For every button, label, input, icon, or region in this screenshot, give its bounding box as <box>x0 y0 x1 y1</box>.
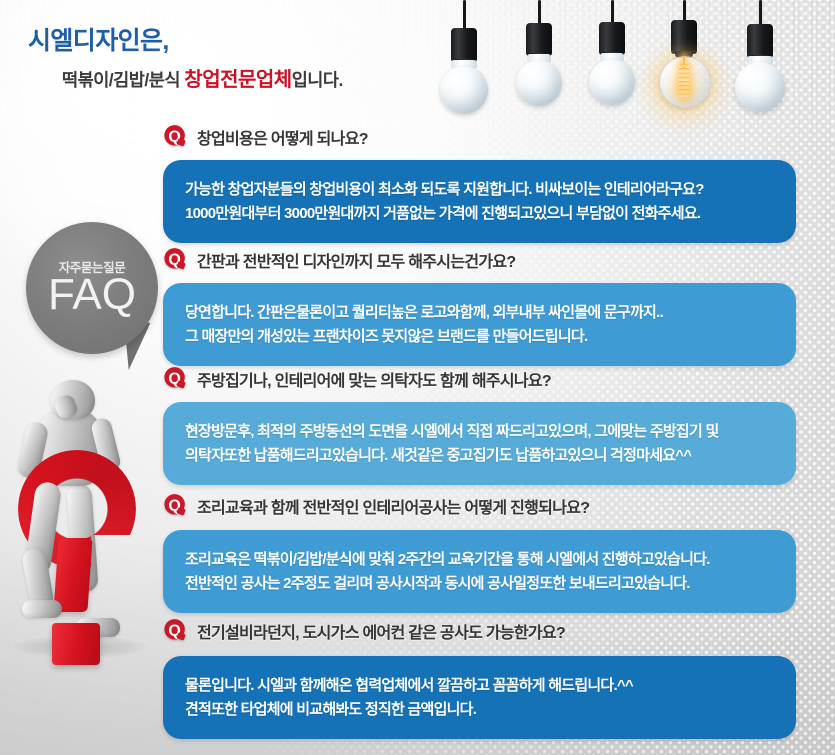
faq-answer-line: 조리교육은 떡볶이/김밥/분식에 맞춰 2주간의 교육기간을 통해 시엘에서 진… <box>185 548 774 572</box>
faq-question-text: 조리교육과 함께 전반적인 인테리어공사는 어떻게 진행되나요? <box>197 494 589 518</box>
faq-question-row-4[interactable]: Q 조리교육과 함께 전반적인 인테리어공사는 어떻게 진행되나요? <box>163 493 589 518</box>
faq-answer-line: 물론입니다. 시엘과 함께해온 협력업체에서 깔끔하고 꼼꼼하게 해드립니다.^… <box>185 674 774 698</box>
faq-page: 시엘디자인은, 떡볶이/김밥/분식 창업전문업체입니다. 자주묻는질문 FAQ … <box>0 0 835 755</box>
faq-answer-box-1: 가능한 창업자분들의 창업비용이 최소화 되도록 지원합니다. 비싸보이는 인테… <box>163 160 796 243</box>
faq-question-text: 주방집기나, 인테리어에 맞는 의탁자도 함께 해주시나요? <box>197 367 551 391</box>
faq-answer-box-3: 현장방문후, 최적의 주방동선의 도면을 시엘에서 직접 짜드리고있으며, 그에… <box>163 402 796 485</box>
faq-answer-line: 의탁자또한 납품해드리고있습니다. 새것같은 중고집기도 납품하고있으니 걱정마… <box>185 444 774 468</box>
faq-answer-line: 당연합니다. 간판은물론이고 퀄리티높은 로고와함께, 외부내부 싸인몰에 문구… <box>185 301 774 325</box>
q-letter-icon: Q <box>163 124 188 149</box>
q-letter-icon: Q <box>163 618 188 643</box>
faq-answer-line: 전반적인 공사는 2주정도 걸리며 공사시작과 동시에 공사일정또한 보내드리고… <box>185 572 774 596</box>
faq-answer-line: 견적또한 타업체에 비교해봐도 정직한 금액입니다. <box>185 698 774 722</box>
faq-question-row-1[interactable]: Q 창업비용은 어떻게 되나요? <box>163 124 368 149</box>
faq-answer-box-5: 물론입니다. 시엘과 함께해온 협력업체에서 깔끔하고 꼼꼼하게 해드립니다.^… <box>163 656 796 739</box>
faq-question-row-3[interactable]: Q 주방집기나, 인테리어에 맞는 의탁자도 함께 해주시나요? <box>163 366 551 391</box>
faq-answer-line: 그 매장만의 개성있는 프랜차이즈 못지않은 브랜드를 만들어드립니다. <box>185 325 774 349</box>
faq-question-text: 간판과 전반적인 디자인까지 모두 해주시는건가요? <box>197 248 515 272</box>
faq-list: Q 창업비용은 어떻게 되나요? 가능한 창업자분들의 창업비용이 최소화 되도… <box>0 0 835 755</box>
q-letter-icon: Q <box>163 247 188 272</box>
faq-question-row-2[interactable]: Q 간판과 전반적인 디자인까지 모두 해주시는건가요? <box>163 247 515 272</box>
faq-answer-line: 현장방문후, 최적의 주방동선의 도면을 시엘에서 직접 짜드리고있으며, 그에… <box>185 420 774 444</box>
faq-answer-box-2: 당연합니다. 간판은물론이고 퀄리티높은 로고와함께, 외부내부 싸인몰에 문구… <box>163 283 796 366</box>
faq-question-text: 전기설비라던지, 도시가스 에어컨 같은 공사도 가능한가요? <box>197 619 565 643</box>
faq-answer-line: 가능한 창업자분들의 창업비용이 최소화 되도록 지원합니다. 비싸보이는 인테… <box>185 178 774 202</box>
faq-answer-box-4: 조리교육은 떡볶이/김밥/분식에 맞춰 2주간의 교육기간을 통해 시엘에서 진… <box>163 530 796 613</box>
faq-question-text: 창업비용은 어떻게 되나요? <box>197 125 368 149</box>
q-letter-icon: Q <box>163 493 188 518</box>
q-letter-icon: Q <box>163 366 188 391</box>
faq-answer-line: 1000만원대부터 3000만원대까지 거품없는 가격에 진행되고있으니 부담없… <box>185 202 774 226</box>
faq-question-row-5[interactable]: Q 전기설비라던지, 도시가스 에어컨 같은 공사도 가능한가요? <box>163 618 565 643</box>
